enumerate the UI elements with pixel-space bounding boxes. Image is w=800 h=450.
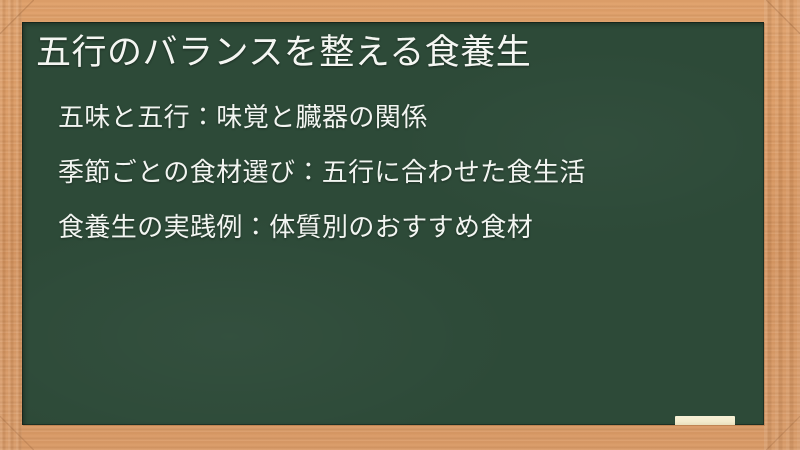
- bullet-item-3: 食養生の実践例：体質別のおすすめ食材: [58, 215, 586, 241]
- frame-corner-bottom-right: [766, 416, 800, 450]
- slide-canvas: 五行のバランスを整える食養生 五味と五行：味覚と臓器の関係 季節ごとの食材選び：…: [0, 0, 800, 450]
- frame-corner-top-right: [766, 0, 800, 34]
- slide-title: 五行のバランスを整える食養生: [36, 32, 531, 76]
- frame-rail-right: [764, 0, 800, 450]
- bullet-list: 五味と五行：味覚と臓器の関係 季節ごとの食材選び：五行に合わせた食生活 食養生の…: [58, 105, 586, 241]
- blackboard: 五行のバランスを整える食養生 五味と五行：味覚と臓器の関係 季節ごとの食材選び：…: [22, 22, 764, 425]
- chalk-stick-icon: [675, 416, 735, 425]
- frame-rail-left: [0, 0, 22, 450]
- bullet-item-2: 季節ごとの食材選び：五行に合わせた食生活: [58, 160, 586, 186]
- bullet-item-1: 五味と五行：味覚と臓器の関係: [58, 105, 586, 131]
